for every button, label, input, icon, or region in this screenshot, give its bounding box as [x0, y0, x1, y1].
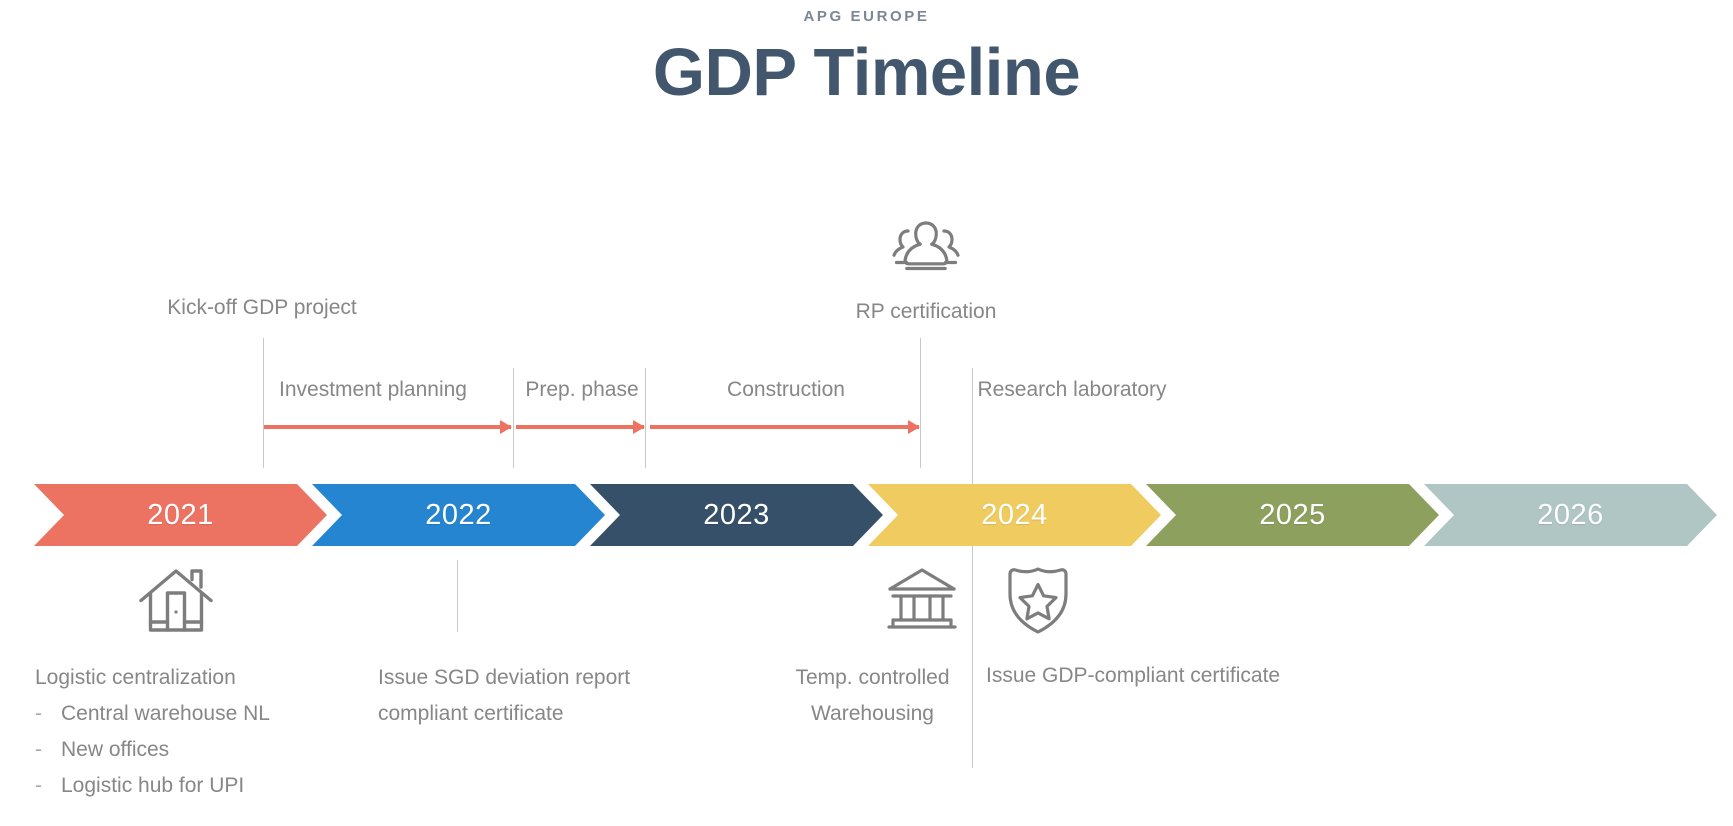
warehousing-line1: Temp. controlled — [780, 660, 965, 696]
bullet-dash: - — [35, 768, 61, 804]
phase-label-research-laboratory: Research laboratory — [977, 378, 1166, 402]
year-label: 2024 — [981, 499, 1048, 532]
tick-rp-cert — [920, 338, 921, 468]
timeline-year-2025[interactable]: 2025 — [1146, 484, 1439, 546]
year-label: 2022 — [425, 499, 492, 532]
year-label: 2023 — [703, 499, 770, 532]
house-icon — [138, 565, 214, 637]
tick-research-lab — [972, 368, 973, 768]
timeline-year-2023[interactable]: 2023 — [590, 484, 883, 546]
logistics-block: Logistic centralization - Central wareho… — [35, 660, 335, 804]
sgd-report-line2: compliant certificate — [378, 696, 678, 732]
brand-eyebrow: APG EUROPE — [0, 8, 1733, 25]
phase-arrow-construction — [650, 425, 919, 429]
timeline-infographic: APG EUROPE GDP Timeline RP certification… — [0, 0, 1733, 826]
bank-icon — [883, 565, 961, 635]
logistics-item: - Logistic hub for UPI — [35, 768, 335, 804]
rp-certification-label: RP certification — [856, 300, 997, 324]
logistics-item-label: New offices — [61, 732, 169, 768]
phase-arrow-prep-phase — [516, 425, 644, 429]
year-label: 2021 — [147, 499, 214, 532]
sgd-report-block: Issue SGD deviation report compliant cer… — [378, 660, 678, 732]
timeline-year-2024[interactable]: 2024 — [868, 484, 1161, 546]
timeline-year-2021[interactable]: 2021 — [34, 484, 327, 546]
logistics-item: - New offices — [35, 732, 335, 768]
sgd-report-line1: Issue SGD deviation report — [378, 660, 678, 696]
phase-arrow-investment-planning — [264, 425, 511, 429]
gdp-certificate-label: Issue GDP-compliant certificate — [986, 658, 1346, 694]
warehousing-line2: Warehousing — [780, 696, 965, 732]
people-group-icon — [886, 218, 966, 276]
gdp-certificate-block: Issue GDP-compliant certificate — [986, 658, 1346, 694]
kickoff-label: Kick-off GDP project — [167, 296, 356, 320]
year-label: 2026 — [1537, 499, 1604, 532]
timeline-year-2022[interactable]: 2022 — [312, 484, 605, 546]
tick-kickoff — [263, 338, 264, 468]
logistics-item-label: Logistic hub for UPI — [61, 768, 244, 804]
bullet-dash: - — [35, 732, 61, 768]
tick-sgd-report — [457, 560, 458, 632]
tick-constr-start — [645, 368, 646, 468]
tick-prep-start — [513, 368, 514, 468]
year-label: 2025 — [1259, 499, 1326, 532]
logistics-title: Logistic centralization — [35, 660, 335, 696]
phase-label-investment-planning: Investment planning — [279, 378, 467, 402]
warehousing-block: Temp. controlled Warehousing — [780, 660, 965, 732]
timeline-bar: 2021 2022 2023 2024 2025 2026 — [0, 484, 1733, 546]
logistics-item-label: Central warehouse NL — [61, 696, 270, 732]
logistics-item: - Central warehouse NL — [35, 696, 335, 732]
timeline-year-2026[interactable]: 2026 — [1424, 484, 1717, 546]
bullet-dash: - — [35, 696, 61, 732]
shield-star-icon — [1000, 562, 1076, 638]
phase-label-construction: Construction — [727, 378, 845, 402]
phase-label-prep-phase: Prep. phase — [525, 378, 638, 402]
page-title: GDP Timeline — [0, 34, 1733, 111]
